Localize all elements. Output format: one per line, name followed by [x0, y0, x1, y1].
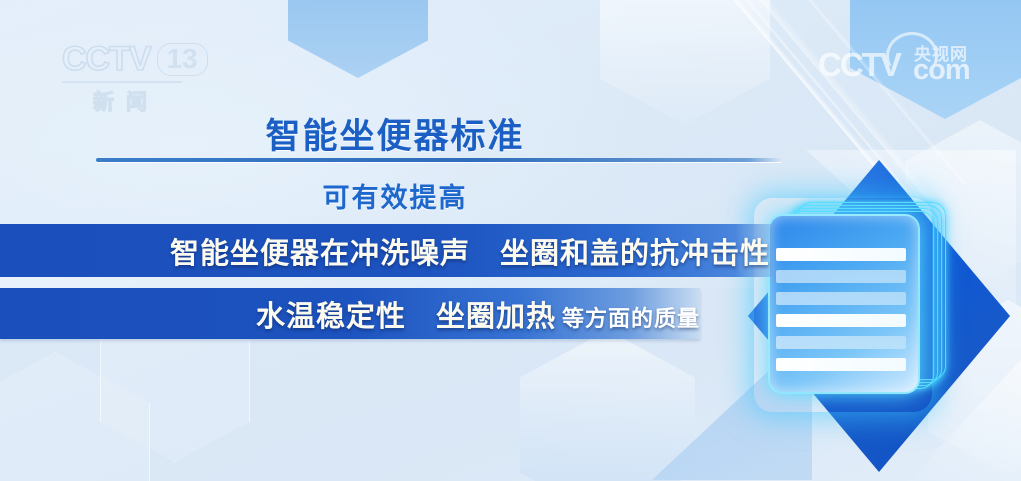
watermark-cctv-text: CCTV	[818, 46, 900, 84]
channel-number: 13	[157, 43, 208, 76]
document-line	[776, 314, 906, 327]
headline-bar-2-tail: 等方面的质量	[562, 301, 700, 333]
cctv13-news-logo: CCTV 13 新闻	[62, 38, 232, 112]
page-subtitle: 可有效提高	[0, 176, 790, 215]
broadcast-graphic-frame: CCTV 13 新闻 CCTV 央视网 com 智能坐便器标准 可有效提高 智能…	[0, 0, 1021, 481]
headline-bar-1: 智能坐便器在冲洗噪声 坐圈和盖的抗冲击性	[0, 224, 774, 277]
headline-bar-2-content: 水温稳定性 坐圈加热 等方面的质量	[256, 293, 700, 335]
document-line	[776, 248, 906, 261]
headline-bar-1-text: 智能坐便器在冲洗噪声 坐圈和盖的抗冲击性	[170, 230, 774, 272]
logo-top-row: CCTV 13	[62, 38, 232, 80]
document-line	[776, 336, 906, 349]
headline-bar-2-emphasis: 水温稳定性 坐圈加热	[256, 293, 556, 335]
cctv-com-watermark: CCTV 央视网 com	[818, 34, 993, 86]
page-title: 智能坐便器标准	[0, 108, 790, 159]
title-divider	[96, 158, 782, 162]
logo-underline	[62, 81, 182, 83]
document-text-lines	[776, 248, 906, 371]
document-icon	[768, 214, 920, 394]
document-line	[776, 292, 906, 305]
headline-bar-2: 水温稳定性 坐圈加热 等方面的质量	[0, 288, 700, 339]
watermark-com-text: com	[913, 54, 970, 87]
document-line	[776, 270, 906, 283]
cctv-wordmark: CCTV	[62, 40, 151, 78]
document-line	[776, 358, 906, 371]
bar-separator	[0, 277, 774, 288]
